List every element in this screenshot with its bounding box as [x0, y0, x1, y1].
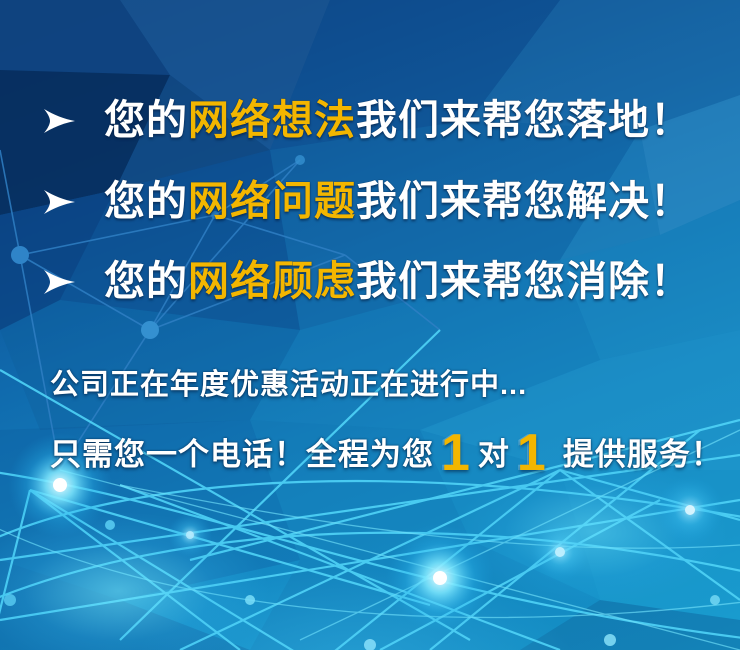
headline-3: 您的网络顾虑我们来帮您消除！	[104, 261, 692, 302]
promo-banner: 您的网络想法我们来帮您落地！ 您的网络问题我们来帮您解决！ 您的网络顾虑我们来帮…	[0, 0, 740, 650]
service-number-1: 1	[434, 433, 478, 475]
headline-1-suffix: 我们来帮您落地！	[356, 97, 692, 143]
headline-1: 您的网络想法我们来帮您落地！	[104, 100, 692, 141]
headline-1-highlight: 网络想法	[188, 97, 356, 143]
headline-3-prefix: 您的	[104, 258, 188, 304]
arrow-right-icon	[42, 108, 76, 134]
service-text-part1: 只需您一个电话！全程为您	[50, 429, 434, 474]
banner-content: 您的网络想法我们来帮您落地！ 您的网络问题我们来帮您解决！ 您的网络顾虑我们来帮…	[0, 0, 740, 650]
arrow-right-icon	[42, 269, 76, 295]
service-text-part2: 提供服务！	[563, 429, 723, 474]
headline-2-highlight: 网络问题	[188, 178, 356, 224]
headline-1-prefix: 您的	[104, 97, 188, 143]
headline-row-1: 您的网络想法我们来帮您落地！	[42, 100, 692, 141]
headline-3-suffix: 我们来帮您消除！	[356, 258, 692, 304]
headline-3-highlight: 网络顾虑	[188, 258, 356, 304]
headline-2-suffix: 我们来帮您解决！	[356, 178, 692, 224]
headline-row-3: 您的网络顾虑我们来帮您消除！	[42, 261, 692, 302]
promo-text: 公司正在年度优惠活动正在进行中...	[50, 361, 527, 403]
headline-2-prefix: 您的	[104, 178, 188, 224]
service-text: 只需您一个电话！全程为您 1 对 1 提供服务！	[50, 428, 723, 474]
arrow-right-icon	[42, 189, 76, 215]
headline-row-2: 您的网络问题我们来帮您解决！	[42, 181, 692, 222]
service-text-middle: 对	[478, 429, 510, 474]
headline-2: 您的网络问题我们来帮您解决！	[104, 181, 692, 222]
service-number-2: 1	[510, 433, 554, 475]
